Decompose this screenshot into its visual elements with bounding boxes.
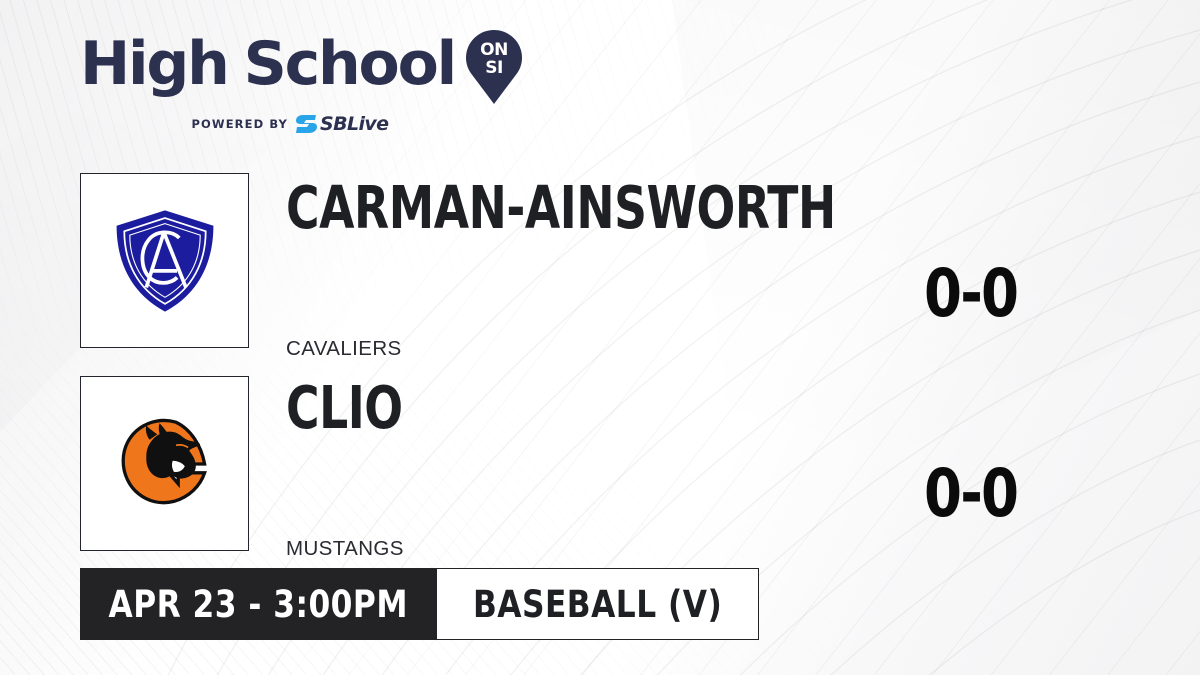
partner-name: SBLive: [320, 113, 388, 135]
powered-by-label: POWERED BY: [192, 117, 288, 131]
team-logo-box: [80, 173, 249, 348]
team-mascot: CAVALIERS: [286, 337, 402, 361]
game-datetime-cell: APR 23 - 3:00PM: [80, 568, 437, 640]
brand-word-school: School: [244, 34, 455, 94]
team-score: 0-0: [924, 461, 1017, 527]
game-sport-label: BASEBALL (V): [473, 583, 722, 626]
team-score: 0-0: [924, 261, 1017, 327]
map-pin-icon: ON SI: [466, 30, 522, 104]
clio-mustang-logo: [110, 409, 220, 519]
sblive-s-mark-icon: [296, 114, 318, 134]
team-name: CARMAN-AINSWORTH: [286, 178, 836, 237]
game-datetime-label: APR 23 - 3:00PM: [109, 583, 408, 626]
game-sport-cell: BASEBALL (V): [437, 568, 759, 640]
carman-ainsworth-shield-logo: [110, 206, 220, 316]
brand-lockup: High School ON SI POWERED BY SBL: [80, 34, 522, 135]
brand-word-high: High: [80, 34, 228, 94]
info-bar: APR 23 - 3:00PM BASEBALL (V): [80, 568, 759, 640]
powered-by-row: POWERED BY SBLive: [80, 113, 500, 135]
svg-text:SI: SI: [485, 58, 503, 78]
team-mascot: MUSTANGS: [286, 537, 404, 561]
team-logo-box: [80, 376, 249, 551]
sblive-lockup: SBLive: [296, 113, 388, 135]
matchup-graphic: High School ON SI POWERED BY SBL: [0, 0, 1200, 675]
team-name: CLIO: [286, 378, 403, 437]
brand-title-row: High School ON SI: [80, 34, 522, 104]
